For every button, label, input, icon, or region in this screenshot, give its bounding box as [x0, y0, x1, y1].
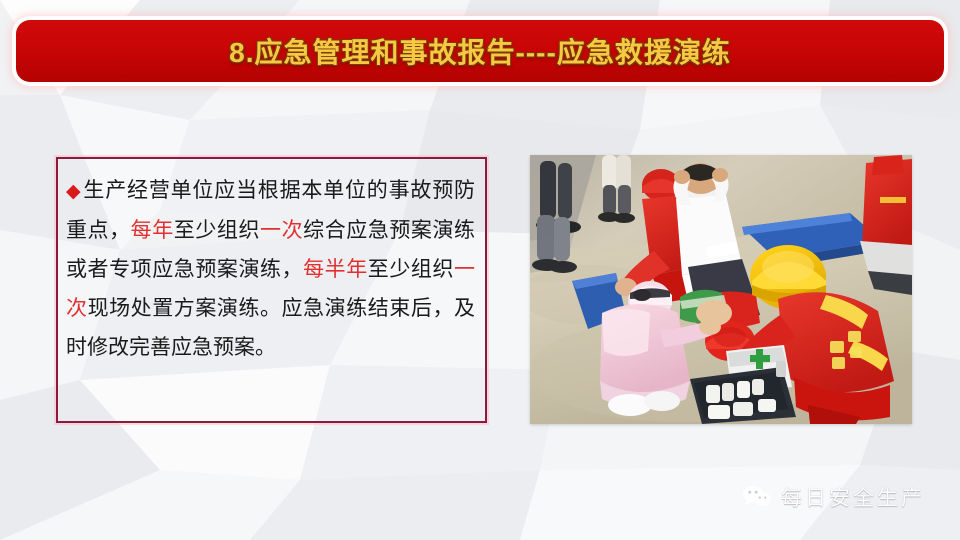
- wechat-icon: [742, 485, 772, 509]
- watermark-label: 每日安全生产: [781, 482, 925, 512]
- content-paragraph: ◆生产经营单位应当根据本单位的事故预防重点，每年至少组织一次综合应急预案演练或者…: [66, 171, 475, 367]
- content-segment-6: 至少组织: [368, 257, 454, 281]
- rescue-drill-photo-graphic: [530, 155, 912, 424]
- slide-title-banner: 8.应急管理和事故报告----应急救援演练: [16, 20, 944, 82]
- watermark: 每日安全生产: [742, 482, 925, 512]
- content-segment-1-highlight: 每年: [131, 218, 174, 242]
- page-title: 8.应急管理和事故报告----应急救援演练: [229, 31, 731, 71]
- content-segment-3-highlight: 一次: [260, 218, 303, 242]
- content-segment-2: 至少组织: [174, 218, 260, 242]
- rescue-drill-photo: [530, 155, 912, 424]
- content-text-box: ◆生产经营单位应当根据本单位的事故预防重点，每年至少组织一次综合应急预案演练或者…: [56, 157, 487, 423]
- content-segment-5-highlight: 每半年: [303, 257, 368, 281]
- slide-canvas: 8.应急管理和事故报告----应急救援演练 ◆生产经营单位应当根据本单位的事故预…: [0, 0, 960, 540]
- diamond-bullet-icon: ◆: [66, 180, 81, 202]
- content-segment-8: 现场处置方案演练。应急演练结束后，及时修改完善应急预案。: [66, 296, 475, 359]
